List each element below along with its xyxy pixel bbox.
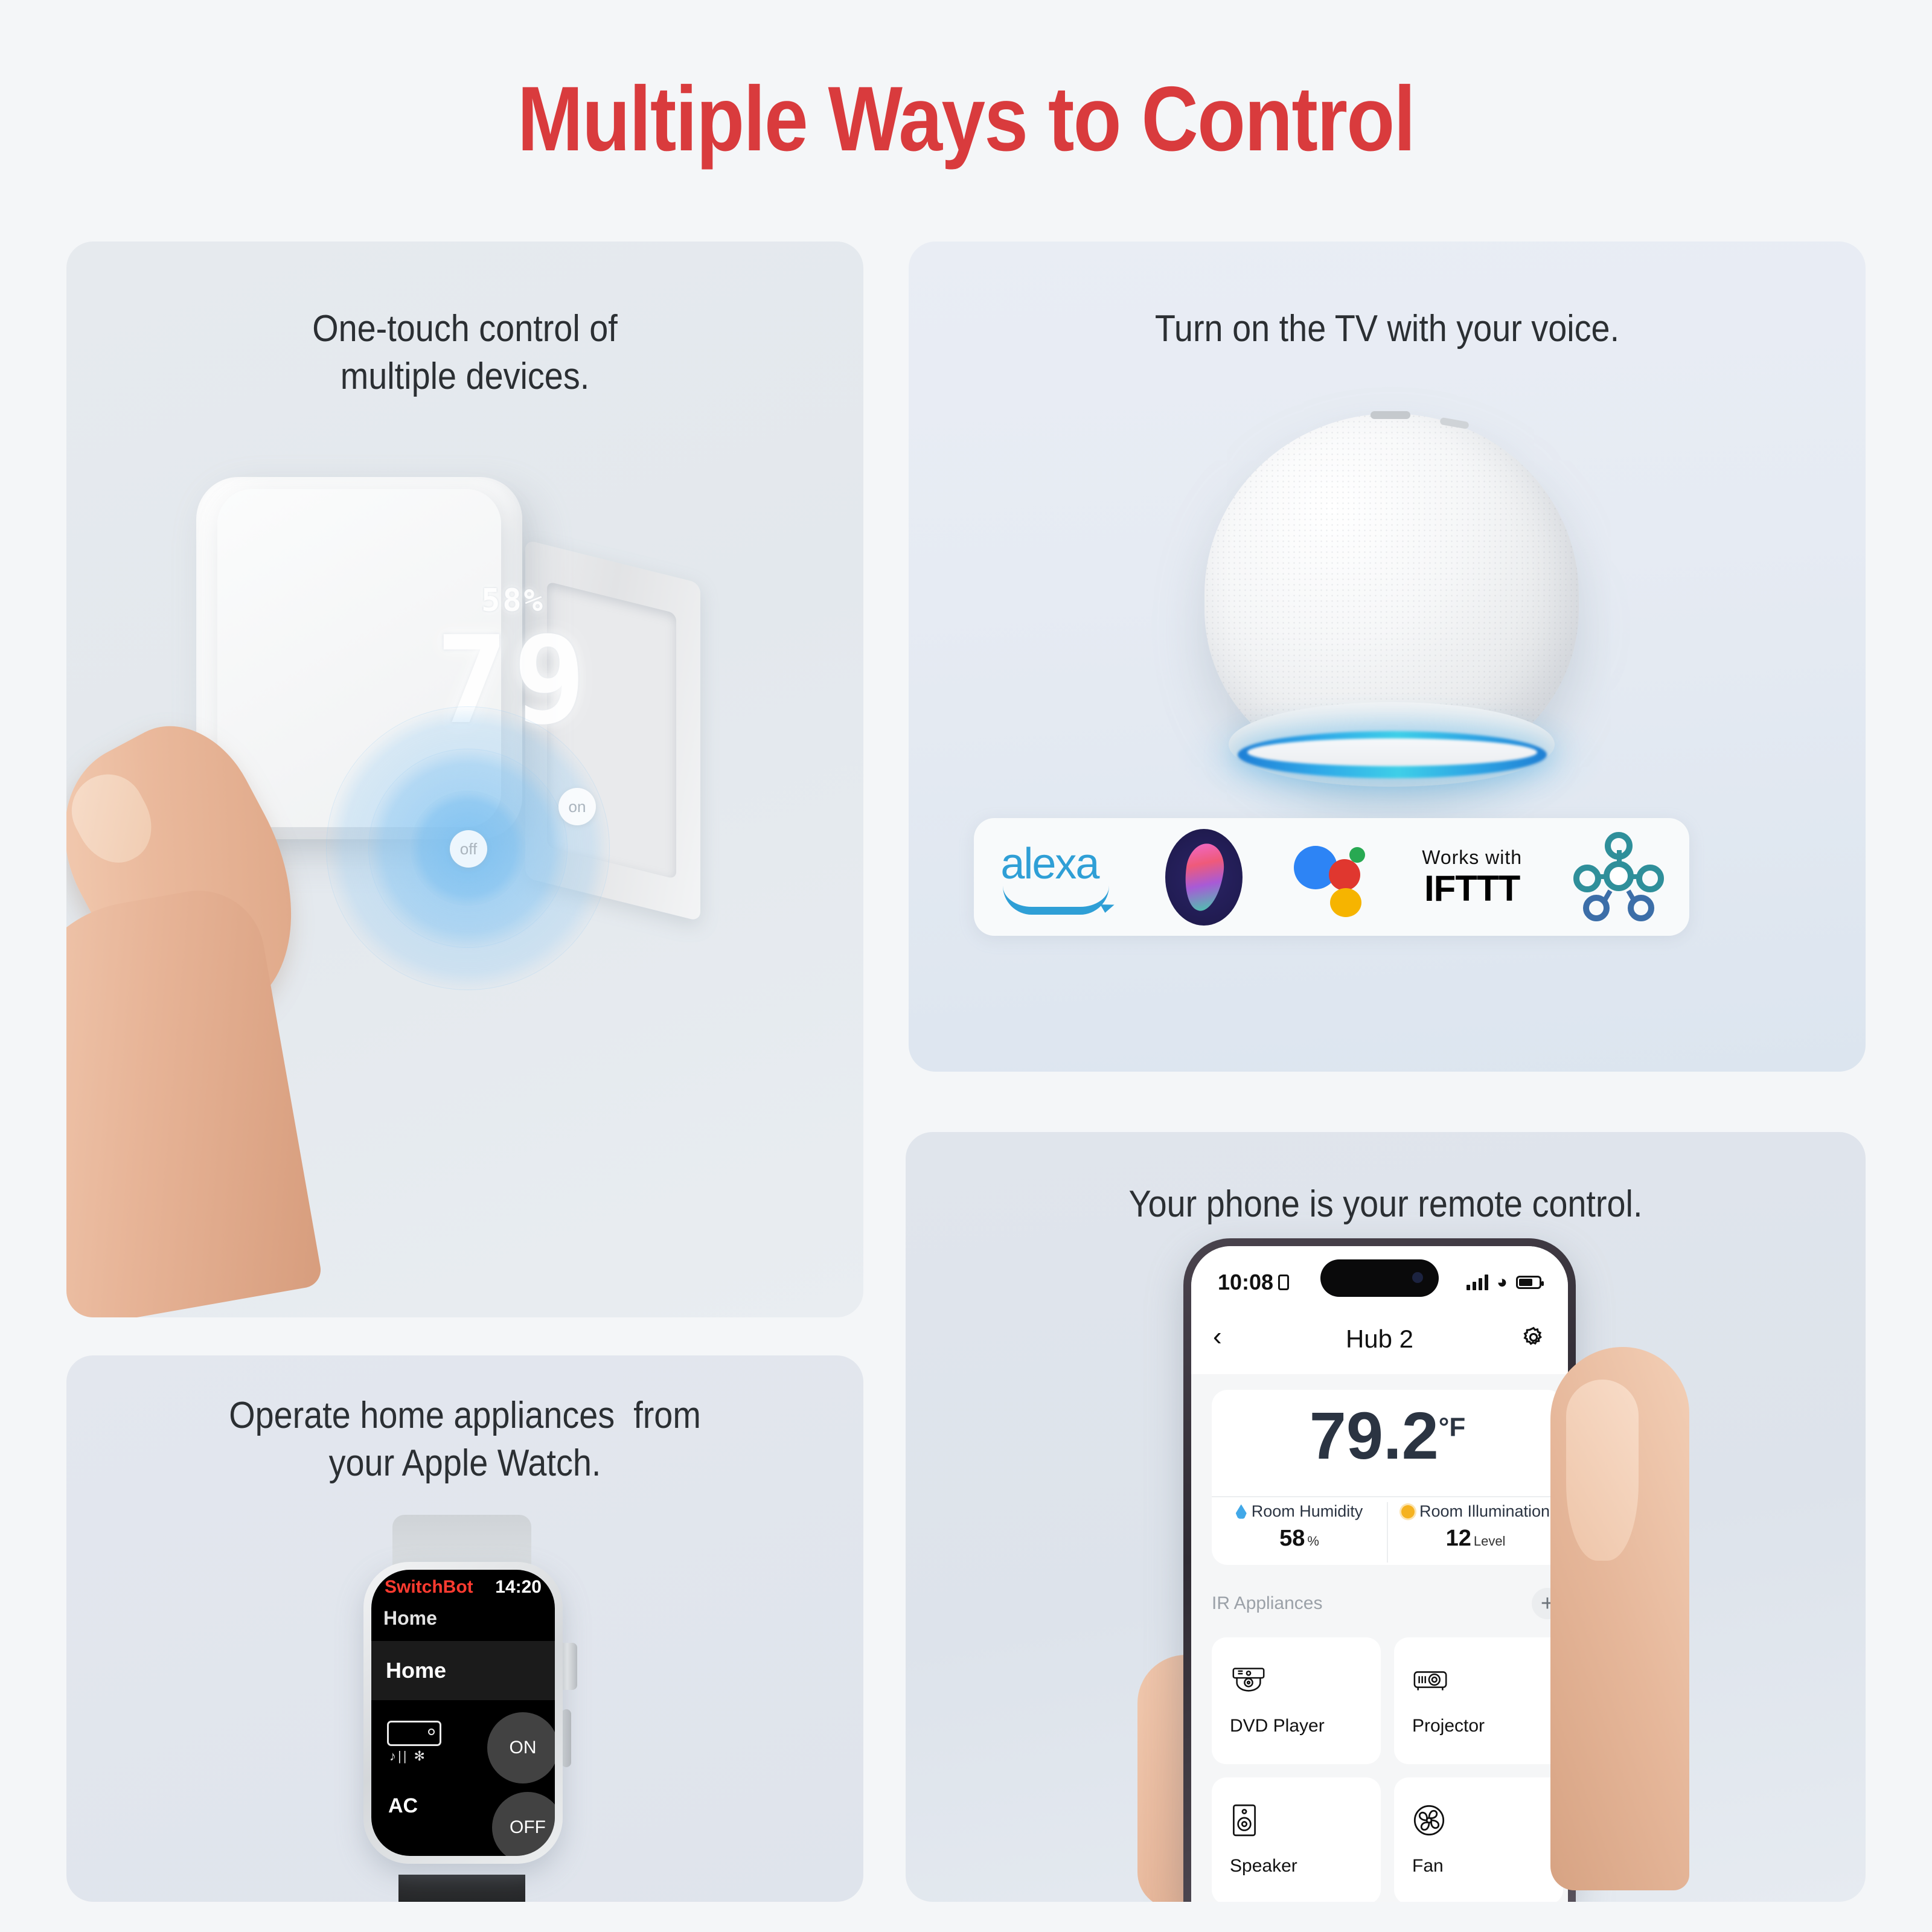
dvd-player-icon (1230, 1658, 1381, 1703)
gear-icon[interactable] (1521, 1325, 1546, 1350)
panel-voice-heading: Turn on the TV with your voice. (956, 305, 1818, 353)
panel-apple-watch: Operate home appliances from your Apple … (66, 1355, 863, 1902)
appliance-name: Speaker (1230, 1856, 1381, 1876)
appliance-name: Fan (1412, 1856, 1563, 1876)
environment-card: 79.2°F Room Humidity 58% Room Illuminati… (1212, 1390, 1563, 1565)
water-drop-icon (1236, 1505, 1247, 1519)
watch-screen: SwitchBot 14:20 Home Home ♪|| ✻ AC ON OF… (371, 1570, 555, 1856)
phone-page-title: Hub 2 (1346, 1325, 1413, 1354)
lock-icon (1278, 1275, 1289, 1290)
back-icon[interactable]: ‹ (1213, 1323, 1222, 1350)
panel-voice-control: Turn on the TV with your voice. alexa (909, 241, 1866, 1072)
panel-phone-heading: Your phone is your remote control. (954, 1180, 1818, 1228)
ifttt-logo: Works with IFTTT (1422, 848, 1522, 907)
cellular-signal-icon (1467, 1275, 1488, 1290)
metric-room-humidity: Room Humidity 58% (1212, 1502, 1387, 1563)
sun-icon (1401, 1505, 1415, 1518)
phone-nav-bar: ‹ Hub 2 (1191, 1304, 1568, 1374)
watch-on-button[interactable]: ON (487, 1712, 555, 1783)
appliance-name: DVD Player (1230, 1716, 1381, 1736)
appliance-tile-fan[interactable]: Fan (1394, 1777, 1563, 1902)
appliance-name: Projector (1412, 1716, 1563, 1736)
wifi-icon: ◕ (1497, 1273, 1508, 1291)
battery-icon (1516, 1276, 1541, 1289)
hub2-on-button[interactable]: on (558, 788, 596, 825)
appliance-tile-speaker[interactable]: Speaker (1212, 1777, 1381, 1902)
appliance-tile-projector[interactable]: Projector (1394, 1637, 1563, 1764)
compatibility-logo-bar: alexa Works with IFTTT (974, 818, 1689, 936)
hub2-off-button[interactable]: off (450, 830, 487, 868)
apple-watch-scene: SwitchBot 14:20 Home Home ♪|| ✻ AC ON OF… (326, 1537, 604, 1902)
metric-room-illumination: Room Illumination 12Level (1387, 1502, 1563, 1563)
watch-device-row-ac: ♪|| ✻ AC ON OFF (371, 1710, 555, 1856)
echo-dot-scene (909, 395, 1866, 891)
phone-status-icons: ◕ (1467, 1273, 1541, 1291)
air-conditioner-icon-sub: ♪|| ✻ (389, 1748, 427, 1764)
page-title: Multiple Ways to Control (135, 71, 1797, 168)
hub2-device-scene: 58% 79 off on (66, 441, 863, 1317)
amazon-smile-icon (1003, 886, 1109, 915)
alexa-wordmark: alexa (1000, 842, 1098, 886)
thumb-operating-phone (1550, 1347, 1689, 1890)
iphone-scene: 10:08 ◕ ‹ Hub 2 (1158, 1238, 1617, 1902)
watch-row-home[interactable]: Home (371, 1641, 555, 1700)
watch-side-button[interactable] (561, 1709, 571, 1767)
watch-app-name: SwitchBot (385, 1577, 473, 1598)
card-divider (1212, 1496, 1563, 1497)
siri-logo (1165, 829, 1243, 926)
metrics-row: Room Humidity 58% Room Illumination 12Le… (1212, 1502, 1563, 1563)
ir-appliances-section-header: IR Appliances + (1212, 1588, 1563, 1619)
smartthings-logo (1573, 832, 1664, 923)
phone-clock: 10:08 (1218, 1270, 1289, 1295)
dynamic-island (1320, 1259, 1439, 1297)
projector-icon (1412, 1658, 1563, 1703)
watch-case: SwitchBot 14:20 Home Home ♪|| ✻ AC ON OF… (363, 1562, 563, 1864)
fan-icon (1412, 1798, 1563, 1843)
watch-device-label: AC (388, 1794, 418, 1818)
ifttt-works-with-label: Works with (1422, 848, 1522, 867)
panel-one-touch-heading: One-touch control of multiple devices. (106, 305, 824, 401)
appliance-tile-dvd-player[interactable]: DVD Player (1212, 1637, 1381, 1764)
siri-icon (1165, 829, 1243, 926)
panel-one-touch-control: One-touch control of multiple devices. 5… (66, 241, 863, 1317)
speaker-top-button (1371, 411, 1410, 419)
smartthings-icon (1573, 832, 1664, 923)
google-assistant-logo (1294, 839, 1371, 916)
watch-status-bar: SwitchBot 14:20 (371, 1577, 555, 1598)
alexa-logo: alexa (999, 841, 1114, 913)
google-assistant-icon (1294, 839, 1371, 916)
section-title: IR Appliances (1212, 1593, 1322, 1614)
speaker-icon (1230, 1798, 1381, 1843)
temperature-readout: 79.2°F (1212, 1403, 1563, 1470)
watch-off-button[interactable]: OFF (492, 1792, 555, 1856)
ifttt-wordmark: IFTTT (1422, 871, 1522, 907)
panel-phone-remote: Your phone is your remote control. 10:08… (906, 1132, 1866, 1902)
watch-nav-title[interactable]: Home (383, 1607, 437, 1630)
iphone-screen: 10:08 ◕ ‹ Hub 2 (1191, 1246, 1568, 1902)
panel-watch-heading: Operate home appliances from your Apple … (106, 1392, 824, 1488)
air-conditioner-icon (387, 1721, 441, 1746)
iphone-frame: 10:08 ◕ ‹ Hub 2 (1183, 1238, 1576, 1902)
watch-band-bottom (398, 1875, 525, 1902)
hub2-display-face: 58% 79 off on (217, 489, 501, 827)
speaker-led-ring (1238, 731, 1547, 778)
watch-row-home-label: Home (386, 1658, 446, 1683)
ir-appliances-grid: DVD Player Projector (1212, 1637, 1563, 1902)
watch-clock: 14:20 (495, 1577, 542, 1598)
